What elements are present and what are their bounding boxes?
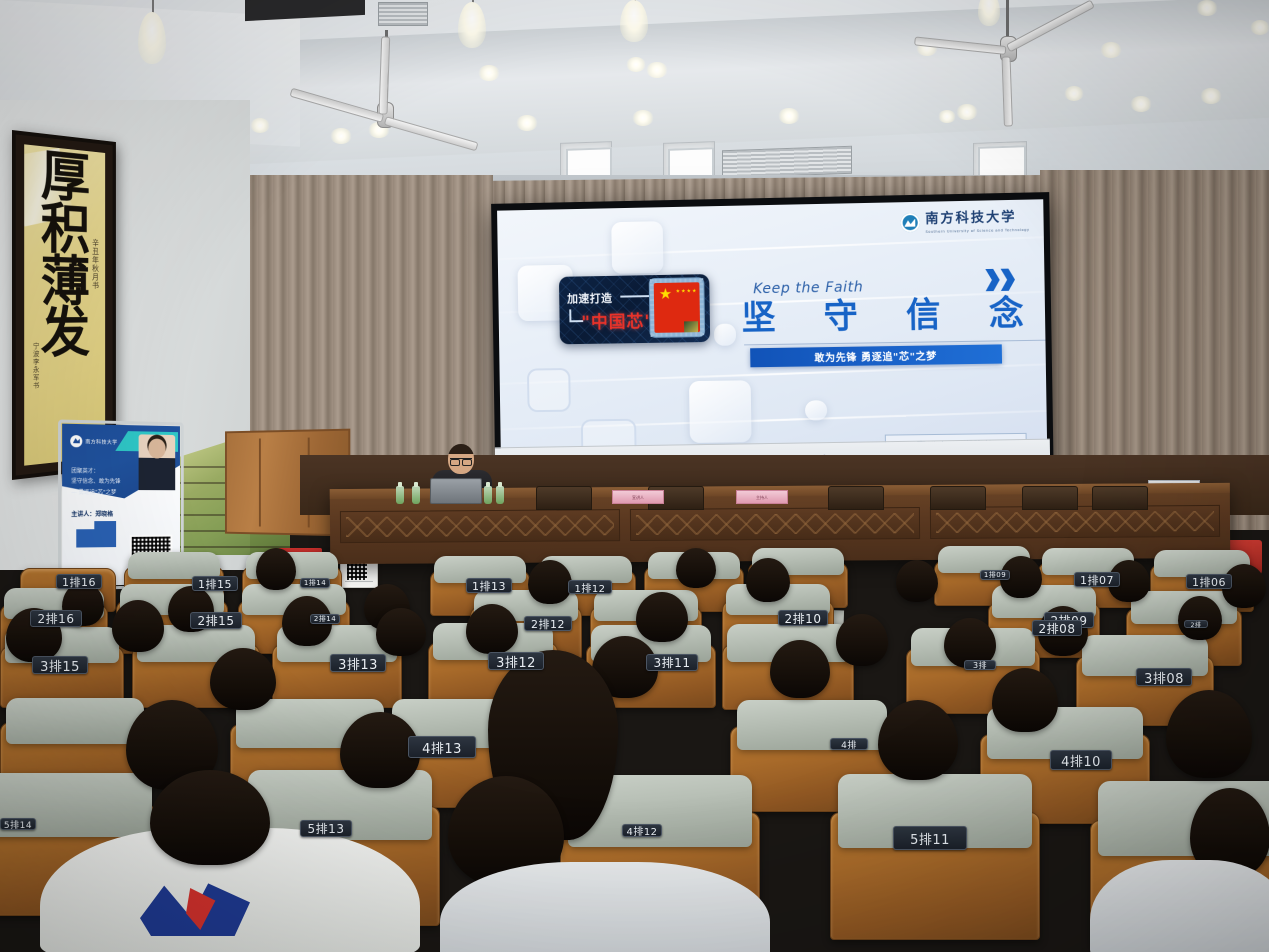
ceiling-fan [295, 30, 475, 130]
fan-blade [1006, 0, 1095, 52]
seat-number-plate: 2排14 [310, 614, 340, 624]
seat-number-plate: 4排12 [622, 824, 662, 837]
slide-subtitle-bar: 敢为先锋 勇逐追"芯"之梦 [750, 344, 1002, 367]
ceiling-air-grille [722, 146, 852, 179]
seat-number-plate: 3排13 [330, 654, 386, 672]
fan-blade [914, 36, 1006, 55]
lecture-hall-photo: 厚 积 薄 发 辛丑年秋月书 宁波李永军书 南方科技大学 [0, 0, 1269, 952]
chip-corner-detail [684, 321, 698, 332]
audience-head [992, 668, 1058, 732]
table-zigzag-trim [636, 513, 914, 535]
seat-number-plate: 4排10 [1050, 750, 1112, 770]
audience-head [636, 592, 688, 642]
seat-number-plate: 1排16 [56, 574, 102, 589]
slide-title-char-1: 坚 [741, 301, 775, 336]
seat-number-plate: 1排14 [300, 578, 330, 588]
ceiling-air-grille [378, 2, 428, 26]
table-zigzag-trim [346, 515, 614, 537]
ceiling-fan [910, 0, 1100, 130]
audience-shoulders [440, 862, 770, 952]
seat-number-plate: 3排11 [646, 654, 698, 671]
stage-chair [536, 486, 592, 510]
slide-university-name: 南方科技大学 [925, 210, 1016, 227]
stage-chair [1022, 486, 1078, 510]
downlight [632, 110, 654, 126]
banner-body-line-1: 团聚英才： [71, 466, 142, 477]
stage-chair [930, 486, 986, 510]
downlight [1130, 96, 1152, 112]
slide-decor-square [805, 400, 827, 420]
downlight [330, 128, 352, 144]
university-logo-icon [900, 212, 919, 231]
downlight [1100, 42, 1122, 58]
calligraphy-signature-left: 宁波李永军书 [32, 342, 41, 390]
water-bottle [484, 486, 492, 504]
chevron-right-icon [985, 268, 1030, 291]
slide-decor-square [689, 380, 752, 443]
audience-head [528, 560, 572, 604]
seat-number-plate: 5排11 [893, 826, 967, 850]
audience-head [770, 640, 830, 698]
seat-number-plate: 3排 [964, 660, 996, 670]
seat-number-plate: 1排12 [568, 580, 612, 594]
audience-head [878, 700, 958, 780]
audience-head [112, 600, 164, 652]
slide-decor-square [527, 368, 571, 412]
presenter-laptop [430, 478, 482, 504]
audience-head [210, 648, 276, 710]
water-bottle [412, 486, 420, 504]
fan-blade [1002, 56, 1013, 126]
calligraphy-signature-right: 辛丑年秋月书 [91, 239, 100, 290]
audience-head [836, 614, 888, 666]
banner-university-logo: 南方科技大学 [70, 434, 122, 449]
banner-body-text: 团聚英才： 坚守信念、敢为先锋 — 勇逐追"芯"之梦 [71, 466, 142, 498]
audience-head [896, 560, 938, 602]
seat-number-plate: 3排15 [32, 656, 88, 674]
audience-shoulders [1090, 860, 1269, 952]
seat-number-plate: 2排08 [1032, 620, 1082, 636]
seat-number-plate: 1排13 [466, 578, 512, 593]
audience-head [256, 548, 296, 590]
downlight [778, 108, 800, 124]
banner-university-name: 南方科技大学 [85, 438, 117, 446]
downlight [626, 57, 646, 72]
downlight [1196, 0, 1218, 16]
audience-head [150, 770, 270, 865]
audience-head [1178, 596, 1222, 640]
seat-number-plate: 5排13 [300, 820, 352, 837]
seat-number-plate: 2排16 [30, 610, 82, 627]
seat-number-plate: 2排15 [190, 612, 242, 629]
downlight [646, 62, 668, 78]
stage-chair [828, 486, 884, 510]
seat-number-plate: 1排07 [1074, 572, 1120, 587]
downlight [516, 115, 538, 131]
downlight [1250, 20, 1269, 35]
banner-speaker-line: 主讲人：郑晓格 [71, 509, 113, 518]
water-bottle [396, 486, 404, 504]
downlight [478, 65, 500, 81]
downlight [250, 118, 270, 133]
water-bottle [496, 486, 504, 504]
audience-head [466, 604, 518, 654]
slide-title-char-4: 念 [989, 297, 1024, 332]
banner-body-line-2: 坚守信念、敢为先锋 [71, 477, 142, 488]
slide-title-char-2: 守 [823, 299, 858, 334]
chip-badge-line-2: "中国芯" [581, 307, 654, 333]
seat-number-plate: 2排10 [778, 610, 828, 626]
china-chip-badge: 加速打造 "中国芯" [559, 274, 710, 344]
table-zigzag-trim [936, 511, 1214, 533]
banner-chevron-graphic [76, 521, 132, 552]
seat-number-plate: 5排14 [0, 818, 36, 830]
seat-number-plate: 3排12 [488, 652, 544, 670]
poster-text-lines [345, 581, 373, 583]
banner-body-line-3: — 勇逐追"芯"之梦 [71, 488, 142, 499]
stage-name-card: 宣讲人 [612, 490, 664, 504]
stage-chair [1092, 486, 1148, 510]
seat-number-plate: 1排09 [980, 570, 1010, 580]
seat-number-plate: 1排06 [1186, 574, 1232, 589]
audience-head [746, 558, 790, 602]
glasses-icon [450, 458, 472, 464]
audience-head [1166, 690, 1252, 778]
seat-number-plate: 2排 [1184, 620, 1208, 628]
stage-name-card: 主持人 [736, 490, 788, 504]
audience-head [376, 608, 426, 656]
slide-title-char-3: 信 [906, 298, 941, 333]
slide-english-tagline: Keep the Faith [753, 279, 863, 297]
slide-decor-square [611, 221, 663, 274]
speaker-portrait [139, 434, 176, 490]
seat-number-plate: 4排 [830, 738, 868, 750]
seat-number-plate: 4排13 [408, 736, 476, 758]
slide-decor-square [714, 324, 736, 346]
scroll-paper: 厚 积 薄 发 辛丑年秋月书 宁波李永军书 [24, 144, 105, 465]
seat-number-plate: 2排12 [524, 616, 572, 631]
slide-university-subtitle: Southern University of Science and Techn… [925, 228, 1029, 234]
university-logo-icon [70, 435, 82, 447]
fan-blade [289, 88, 384, 123]
seat-number-plate: 1排15 [192, 576, 238, 591]
slide-university-logo: 南方科技大学 Southern University of Science an… [900, 208, 1030, 235]
seat-number-plate: 3排08 [1136, 668, 1192, 686]
downlight [1200, 88, 1222, 104]
chip-badge-line-1: 加速打造 [567, 290, 613, 307]
slide-main-title: 坚 守 信 念 [741, 297, 1023, 336]
audience-head [676, 548, 716, 588]
